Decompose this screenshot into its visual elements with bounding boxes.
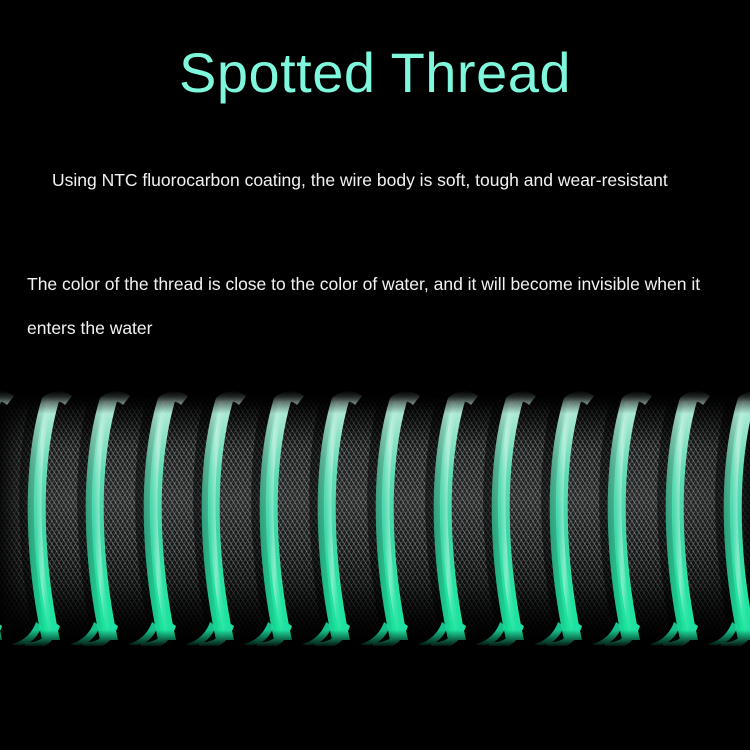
description-paragraph-2: The color of the thread is close to the …	[27, 262, 743, 350]
description-paragraph-1: Using NTC fluorocarbon coating, the wire…	[52, 158, 712, 202]
product-photo	[0, 388, 750, 646]
spool-body	[0, 396, 750, 642]
title-block: Spotted Thread	[0, 42, 750, 104]
page-title: Spotted Thread	[179, 42, 571, 104]
product-banner: Spotted Thread Using NTC fluorocarbon co…	[0, 0, 750, 750]
